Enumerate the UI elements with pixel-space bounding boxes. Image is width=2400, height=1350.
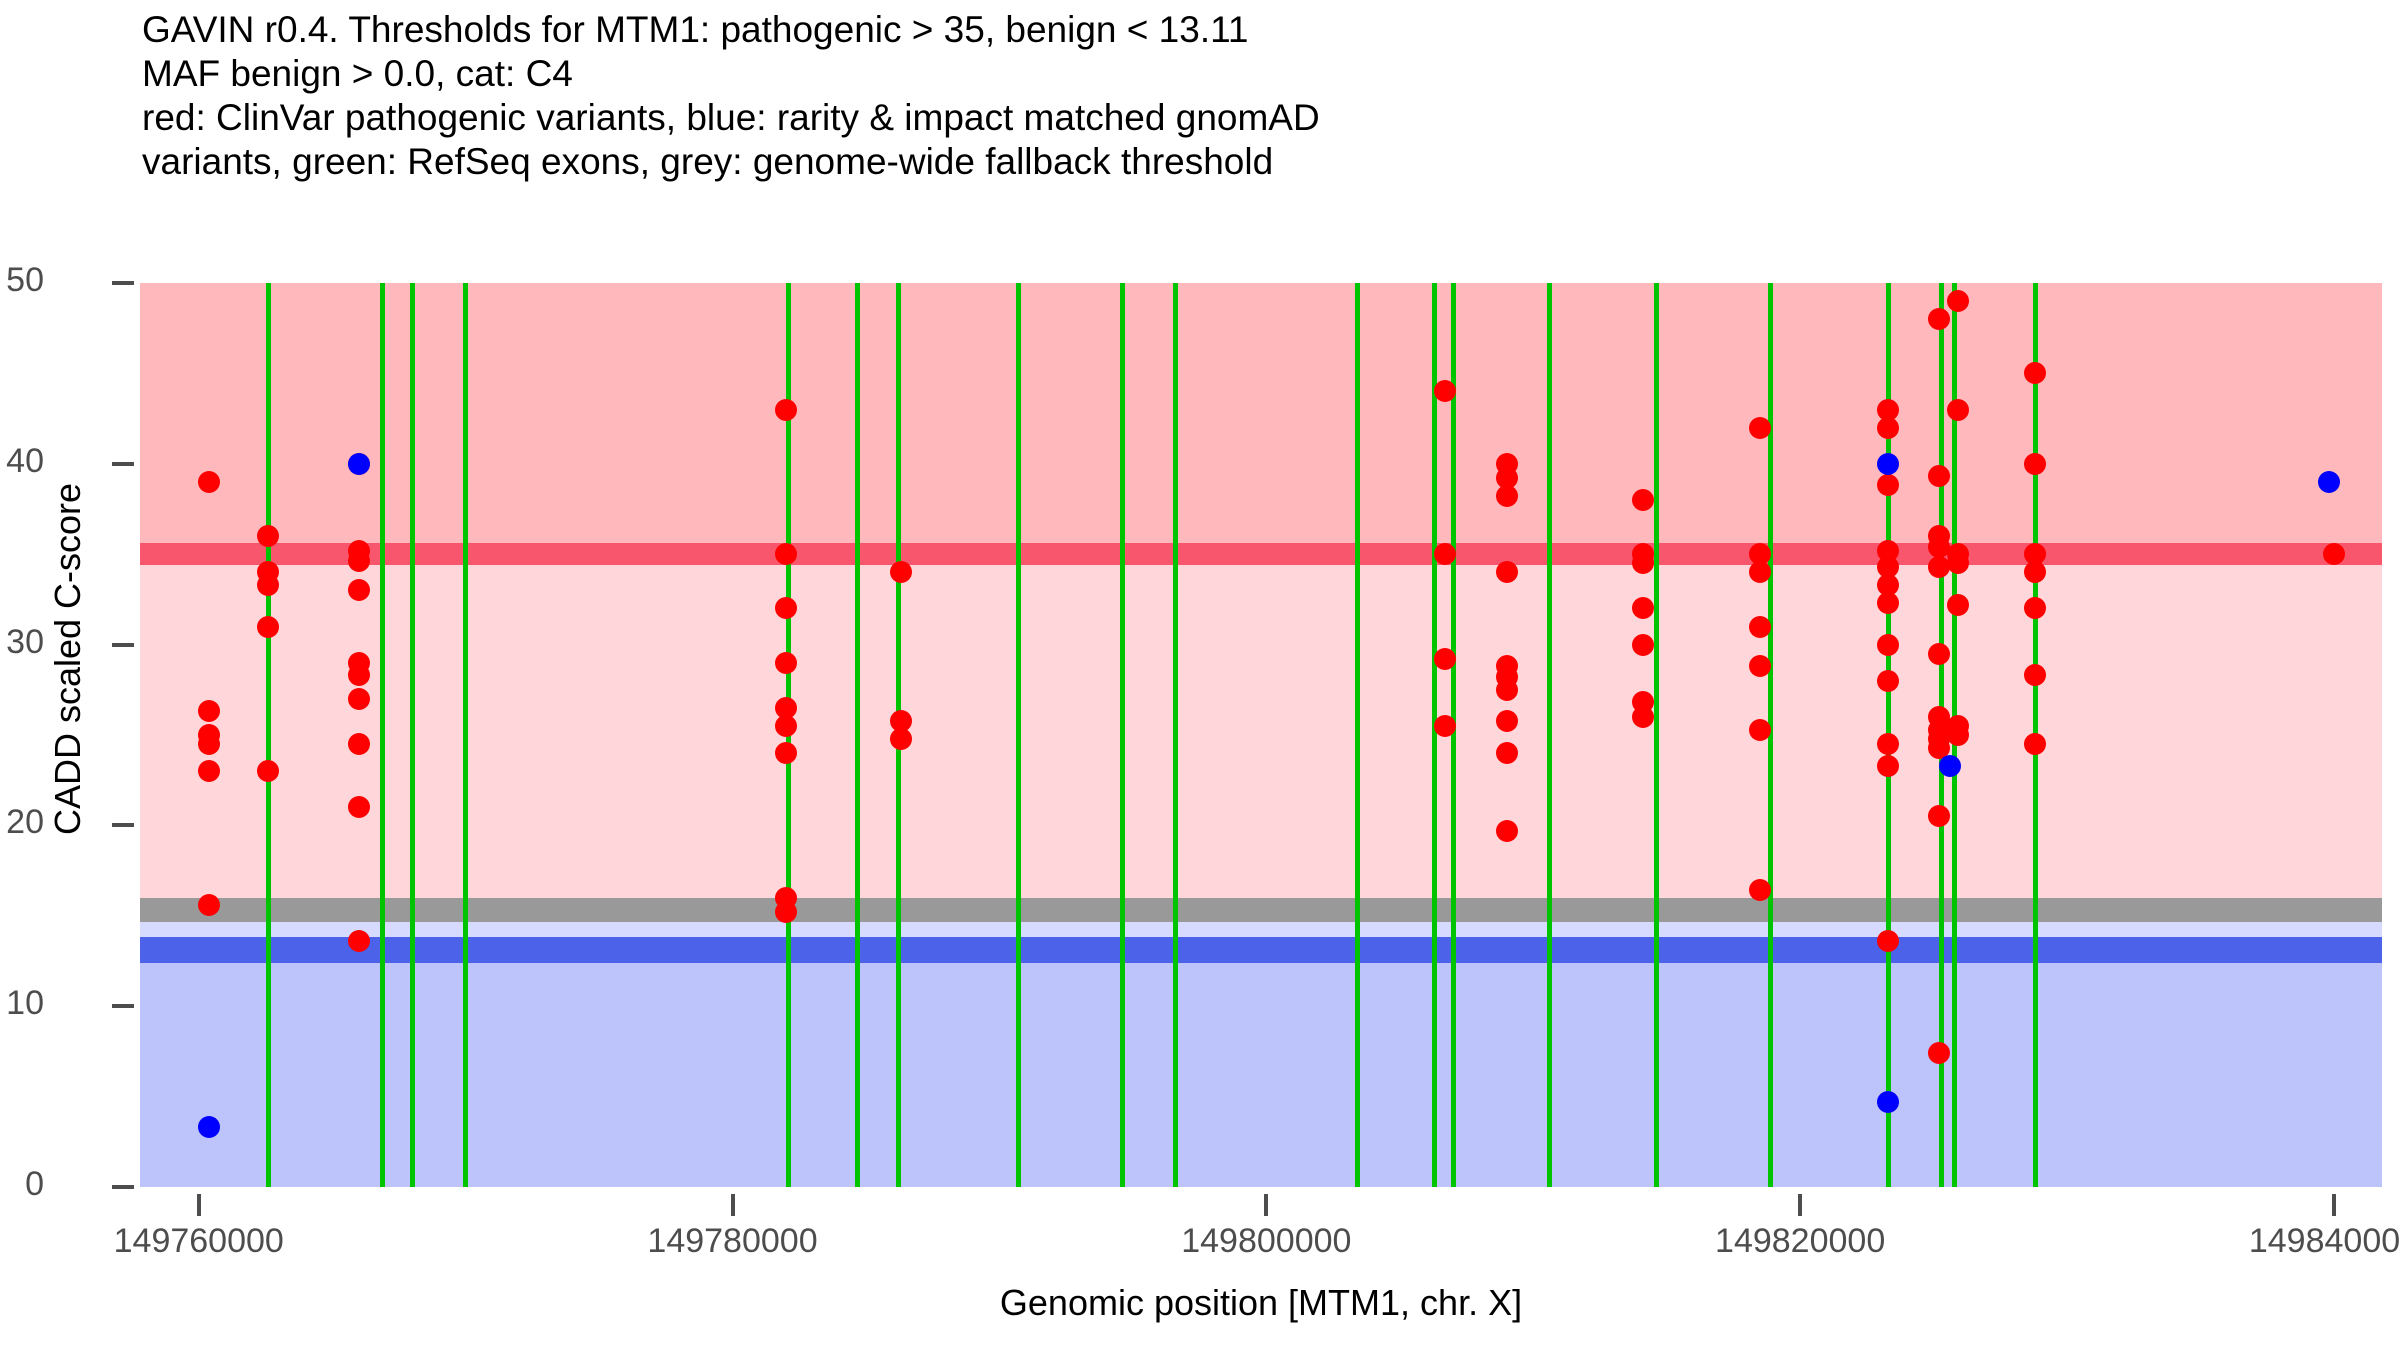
y-tick-label: 30 — [0, 623, 44, 662]
clinvar-pathogenic-point — [1749, 417, 1771, 439]
title-line-4: variants, green: RefSeq exons, grey: gen… — [142, 140, 2342, 184]
x-axis-title: Genomic position [MTM1, chr. X] — [140, 1282, 2382, 1324]
clinvar-pathogenic-point — [1928, 643, 1950, 665]
clinvar-pathogenic-point — [2323, 543, 2345, 565]
x-tick-mark — [197, 1194, 201, 1216]
gnomad-variant-point — [1877, 453, 1899, 475]
clinvar-pathogenic-point — [775, 715, 797, 737]
exon-line — [855, 283, 860, 1187]
clinvar-pathogenic-point — [1496, 485, 1518, 507]
clinvar-pathogenic-point — [1632, 597, 1654, 619]
y-axis-title: CADD scaled C-score — [47, 259, 89, 1059]
title-line-3: red: ClinVar pathogenic variants, blue: … — [142, 96, 2342, 140]
clinvar-pathogenic-point — [890, 728, 912, 750]
exon-line — [266, 283, 271, 1187]
clinvar-pathogenic-point — [257, 616, 279, 638]
x-tick-label: 149840000 — [2164, 1222, 2400, 1261]
clinvar-pathogenic-point — [1434, 715, 1456, 737]
y-tick-label: 10 — [0, 984, 44, 1023]
benign-band — [140, 950, 2382, 1187]
fallback-threshold-line — [140, 898, 2382, 922]
x-tick-mark — [1264, 1194, 1268, 1216]
clinvar-pathogenic-point — [1947, 399, 1969, 421]
clinvar-pathogenic-point — [1877, 634, 1899, 656]
gnomad-variant-point — [1939, 755, 1961, 777]
exon-line — [1355, 283, 1360, 1187]
x-tick-mark — [2332, 1194, 2336, 1216]
title-line-1: GAVIN r0.4. Thresholds for MTM1: pathoge… — [142, 8, 2342, 52]
clinvar-pathogenic-point — [1496, 561, 1518, 583]
clinvar-pathogenic-point — [1947, 724, 1969, 746]
y-tick-label: 50 — [0, 261, 44, 300]
clinvar-pathogenic-point — [1749, 616, 1771, 638]
gnomad-variant-point — [348, 453, 370, 475]
clinvar-pathogenic-point — [1877, 670, 1899, 692]
clinvar-pathogenic-point — [775, 901, 797, 923]
exon-line — [1120, 283, 1125, 1187]
clinvar-pathogenic-point — [348, 688, 370, 710]
clinvar-pathogenic-point — [1496, 710, 1518, 732]
exon-line — [463, 283, 468, 1187]
exon-line — [1547, 283, 1552, 1187]
clinvar-pathogenic-point — [1877, 417, 1899, 439]
clinvar-pathogenic-point — [1947, 594, 1969, 616]
clinvar-pathogenic-point — [1947, 290, 1969, 312]
clinvar-pathogenic-point — [1928, 1042, 1950, 1064]
exon-line — [1451, 283, 1456, 1187]
y-tick-mark — [112, 1004, 134, 1008]
clinvar-pathogenic-point — [1749, 719, 1771, 741]
clinvar-pathogenic-point — [1496, 742, 1518, 764]
y-tick-label: 0 — [0, 1165, 44, 1204]
clinvar-pathogenic-point — [775, 543, 797, 565]
benign-threshold-line — [140, 937, 2382, 963]
clinvar-pathogenic-point — [348, 733, 370, 755]
clinvar-pathogenic-point — [2024, 453, 2046, 475]
figure-title-block: GAVIN r0.4. Thresholds for MTM1: pathoge… — [142, 8, 2342, 184]
clinvar-pathogenic-point — [257, 574, 279, 596]
x-tick-mark — [731, 1194, 735, 1216]
clinvar-pathogenic-point — [775, 742, 797, 764]
clinvar-pathogenic-point — [775, 399, 797, 421]
y-tick-mark — [112, 1185, 134, 1189]
pathogenic-upper-band — [140, 283, 2382, 554]
clinvar-pathogenic-point — [1632, 489, 1654, 511]
exon-line — [1016, 283, 1021, 1187]
gnomad-variant-point — [2318, 471, 2340, 493]
x-tick-label: 149820000 — [1630, 1222, 1970, 1261]
clinvar-pathogenic-point — [1496, 679, 1518, 701]
clinvar-pathogenic-point — [1632, 706, 1654, 728]
clinvar-pathogenic-point — [1877, 755, 1899, 777]
plot-panel — [140, 283, 2382, 1187]
clinvar-pathogenic-point — [348, 930, 370, 952]
y-tick-mark — [112, 643, 134, 647]
clinvar-pathogenic-point — [2024, 733, 2046, 755]
y-tick-mark — [112, 281, 134, 285]
clinvar-pathogenic-point — [1947, 552, 1969, 574]
exon-line — [1173, 283, 1178, 1187]
clinvar-pathogenic-point — [1496, 820, 1518, 842]
exon-line — [410, 283, 415, 1187]
clinvar-pathogenic-point — [1632, 552, 1654, 574]
exon-line — [380, 283, 385, 1187]
x-tick-label: 149800000 — [1096, 1222, 1436, 1261]
x-tick-label: 149780000 — [563, 1222, 903, 1261]
y-tick-label: 20 — [0, 803, 44, 842]
y-tick-label: 40 — [0, 442, 44, 481]
clinvar-pathogenic-point — [1632, 634, 1654, 656]
clinvar-pathogenic-point — [775, 652, 797, 674]
title-line-2: MAF benign > 0.0, cat: C4 — [142, 52, 2342, 96]
clinvar-pathogenic-point — [890, 561, 912, 583]
y-tick-mark — [112, 823, 134, 827]
y-tick-mark — [112, 462, 134, 466]
chart-figure: GAVIN r0.4. Thresholds for MTM1: pathoge… — [0, 0, 2400, 1350]
clinvar-pathogenic-point — [348, 796, 370, 818]
x-tick-mark — [1798, 1194, 1802, 1216]
x-tick-label: 149760000 — [29, 1222, 369, 1261]
exon-line — [1654, 283, 1659, 1187]
clinvar-pathogenic-point — [1928, 308, 1950, 330]
exon-line — [1432, 283, 1437, 1187]
